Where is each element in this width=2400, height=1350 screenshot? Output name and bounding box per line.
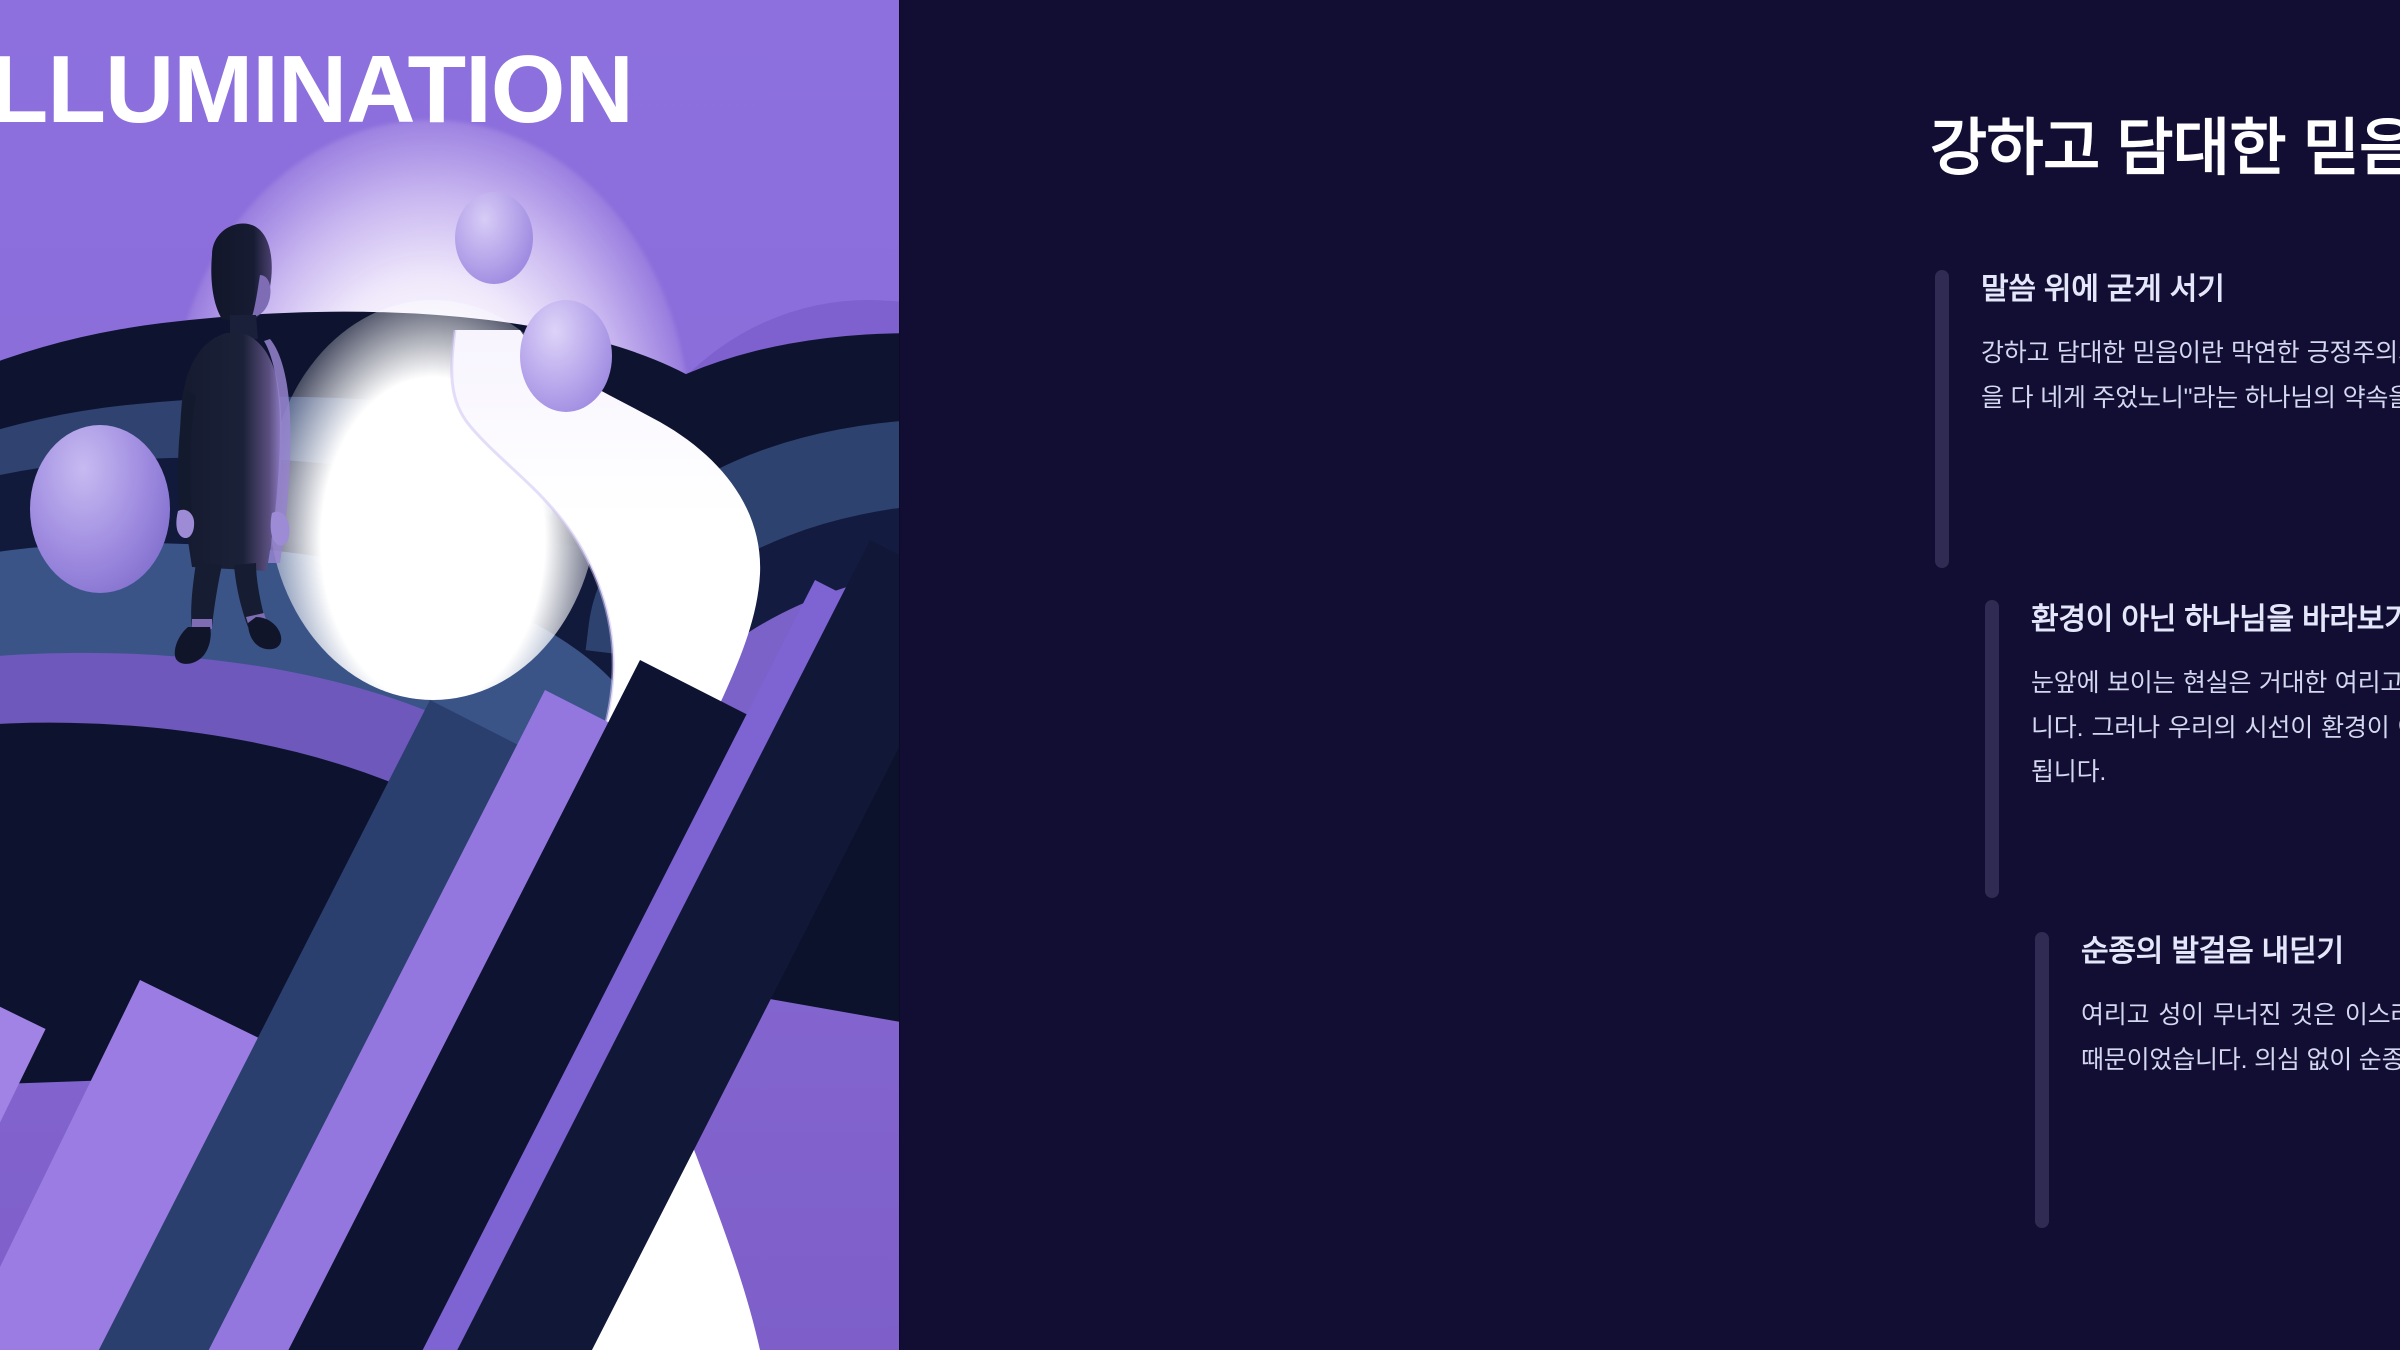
card-heading: 말씀 위에 굳게 서기 [1981,270,2400,309]
card-accent-bar [1985,600,1999,898]
card-heading: 환경이 아닌 하나님을 바라보기 [2031,600,2400,639]
content-card: 순종의 발걸음 내딛기 여리고 성이 무너진 것은 이스라엘의 군사력 때문이 … [2035,932,2400,1228]
content-card: 환경이 아닌 하나님을 바라보기 눈앞에 보이는 현실은 거대한 여리고 성처럼… [1985,600,2400,898]
page-title: 강하고 담대한 믿음의 실천 [1930,110,2400,188]
card-body: 말씀 위에 굳게 서기 강하고 담대한 믿음이란 막연한 긍정주의가 아니라, … [1949,270,2400,568]
card-text: 눈앞에 보이는 현실은 거대한 여리고 성처럼 우리를 위협하고, 가나안의 거… [2031,661,2400,795]
card-text: 여리고 성이 무너진 것은 이스라엘의 군사력 때문이 아니라, 하나님의 말씀… [2081,993,2400,1082]
card-body: 순종의 발걸음 내딛기 여리고 성이 무너진 것은 이스라엘의 군사력 때문이 … [2049,932,2400,1228]
walking-man-icon [148,215,348,665]
banner-word: ILLUMINATION [0,42,900,138]
illustration-panel: ILLUMINATION [0,0,900,1350]
slide-root: ILLUMINATION 강하고 담대한 믿음의 실천 말씀 위에 굳게 서기 … [0,0,2400,1350]
card-heading: 순종의 발걸음 내딛기 [2081,932,2400,971]
card-text: 강하고 담대한 믿음이란 막연한 긍정주의가 아니라, 하나님의 약속의 말씀 … [1981,331,2400,420]
orb-icon [455,192,533,284]
card-accent-bar [2035,932,2049,1228]
orb-icon [520,300,612,412]
card-accent-bar [1935,270,1949,568]
content-panel: 강하고 담대한 믿음의 실천 말씀 위에 굳게 서기 강하고 담대한 믿음이란 … [900,0,2400,1350]
card-body: 환경이 아닌 하나님을 바라보기 눈앞에 보이는 현실은 거대한 여리고 성처럼… [1999,600,2400,898]
content-card: 말씀 위에 굳게 서기 강하고 담대한 믿음이란 막연한 긍정주의가 아니라, … [1935,270,2400,568]
